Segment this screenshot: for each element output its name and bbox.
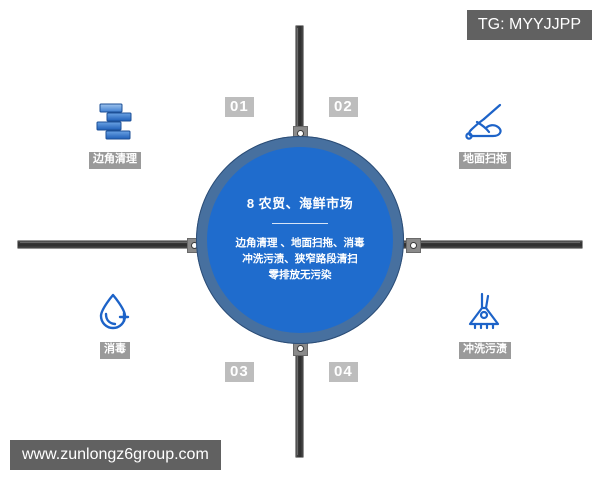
center-description-line-2: 冲洗污渍、狭窄路段清扫 bbox=[236, 251, 365, 267]
feature-top-left[interactable]: 边角清理 bbox=[55, 98, 175, 169]
url-watermark: www.zunlongz6group.com bbox=[10, 440, 221, 470]
center-circle-ring: 8 农贸、海鲜市场 边角清理 、地面扫拖、消毒 冲洗污渍、狭窄路段清扫 零排放无… bbox=[196, 136, 404, 344]
pressure-washer-icon bbox=[459, 288, 511, 336]
feature-label-bottom-left: 消毒 bbox=[100, 342, 130, 359]
feature-top-right[interactable]: 地面扫拖 bbox=[425, 98, 545, 169]
center-title: 8 农贸、海鲜市场 bbox=[247, 196, 353, 212]
feature-label-top-left: 边角清理 bbox=[89, 152, 141, 169]
stacked-bars-icon bbox=[89, 98, 141, 146]
center-description-line-1: 边角清理 、地面扫拖、消毒 bbox=[236, 235, 365, 251]
number-badge-03: 03 bbox=[225, 362, 254, 382]
number-badge-01: 01 bbox=[225, 97, 254, 117]
telegram-watermark: TG: MYYJJPP bbox=[467, 10, 592, 40]
floor-scrubber-icon bbox=[459, 98, 511, 146]
center-divider bbox=[272, 223, 328, 224]
connector-node-right bbox=[406, 238, 421, 253]
center-circle-body: 8 农贸、海鲜市场 边角清理 、地面扫拖、消毒 冲洗污渍、狭窄路段清扫 零排放无… bbox=[207, 147, 393, 333]
water-drop-plus-icon bbox=[89, 288, 141, 336]
center-description: 边角清理 、地面扫拖、消毒 冲洗污渍、狭窄路段清扫 零排放无污染 bbox=[236, 235, 365, 284]
number-badge-02: 02 bbox=[329, 97, 358, 117]
connector-bar-left bbox=[18, 241, 200, 248]
feature-label-top-right: 地面扫拖 bbox=[459, 152, 511, 169]
diagram-canvas: 8 农贸、海鲜市场 边角清理 、地面扫拖、消毒 冲洗污渍、狭窄路段清扫 零排放无… bbox=[0, 0, 600, 480]
feature-bottom-right[interactable]: 冲洗污渍 bbox=[425, 288, 545, 359]
connector-bar-top bbox=[296, 26, 303, 134]
center-description-line-3: 零排放无污染 bbox=[236, 267, 365, 283]
number-badge-04: 04 bbox=[329, 362, 358, 382]
connector-bar-right bbox=[401, 241, 582, 248]
connector-bar-bottom bbox=[296, 347, 303, 457]
feature-bottom-left[interactable]: 消毒 bbox=[55, 288, 175, 359]
feature-label-bottom-right: 冲洗污渍 bbox=[459, 342, 511, 359]
